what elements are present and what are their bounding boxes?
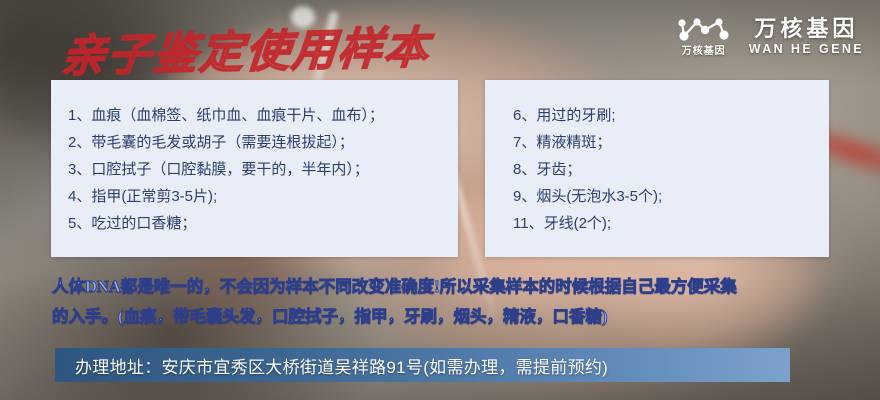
list-item: 5、吃过的口香糖； bbox=[51, 210, 458, 237]
list-item: 2、带毛囊的毛发或胡子（需要连根拔起）； bbox=[51, 129, 458, 156]
list-item: 3、口腔拭子（口腔黏膜，要干的，半年内）； bbox=[51, 156, 458, 183]
poster-canvas: 亲子鉴定使用样本 bbox=[0, 0, 880, 400]
list-item: 1、血痕（血棉签、纸巾血、血痕干片、血布）； bbox=[51, 102, 458, 129]
list-item: 7、精液精斑； bbox=[485, 129, 829, 156]
address-bar: 办理地址：安庆市宜秀区大桥街道吴祥路91号(如需办理，需提前预约) bbox=[55, 348, 790, 382]
list-item: 4、指甲(正常剪3-5片); bbox=[51, 183, 458, 210]
dna-note: 人体DNA都是唯一的，不会因为样本不同改变准确度!所以采集样本的时候根据自己最方… bbox=[52, 272, 852, 332]
list-item: 11、牙线(2个); bbox=[485, 210, 829, 237]
dna-note-line-2: 的入手。(血痕，带毛囊头发，口腔拭子，指甲，牙刷，烟头，精液，口香糖) bbox=[52, 302, 852, 332]
list-item: 9、烟头(无泡水3-5个); bbox=[485, 183, 829, 210]
brand-mark-label: 万核基因 bbox=[682, 47, 726, 57]
address-text: 办理地址：安庆市宜秀区大桥街道吴祥路91号(如需办理，需提前预约) bbox=[55, 353, 608, 378]
dna-note-line-1: 人体DNA都是唯一的，不会因为样本不同改变准确度!所以采集样本的时候根据自己最方… bbox=[52, 272, 852, 302]
sample-list-left: 1、血痕（血棉签、纸巾血、血痕干片、血布）； 2、带毛囊的毛发或胡子（需要连根拔… bbox=[51, 80, 458, 237]
list-item: 8、牙齿； bbox=[485, 156, 829, 183]
page-title: 亲子鉴定使用样本 bbox=[59, 12, 433, 85]
brand-wordmark: 万核基因 WAN HE GENE bbox=[749, 17, 864, 56]
molecule-network-icon bbox=[675, 16, 733, 44]
sample-list-right: 6、用过的牙刷; 7、精液精斑； 8、牙齿； 9、烟头(无泡水3-5个); 11… bbox=[485, 80, 829, 237]
list-item: 6、用过的牙刷; bbox=[485, 102, 829, 129]
sample-panel-left: 1、血痕（血棉签、纸巾血、血痕干片、血布）； 2、带毛囊的毛发或胡子（需要连根拔… bbox=[51, 80, 458, 257]
brand-mark: 万核基因 bbox=[675, 16, 733, 57]
brand-name-en: WAN HE GENE bbox=[749, 43, 864, 56]
sample-panel-right: 6、用过的牙刷; 7、精液精斑； 8、牙齿； 9、烟头(无泡水3-5个); 11… bbox=[485, 80, 829, 257]
brand-logo: 万核基因 万核基因 WAN HE GENE bbox=[675, 16, 864, 57]
brand-name-cn: 万核基因 bbox=[754, 17, 858, 40]
